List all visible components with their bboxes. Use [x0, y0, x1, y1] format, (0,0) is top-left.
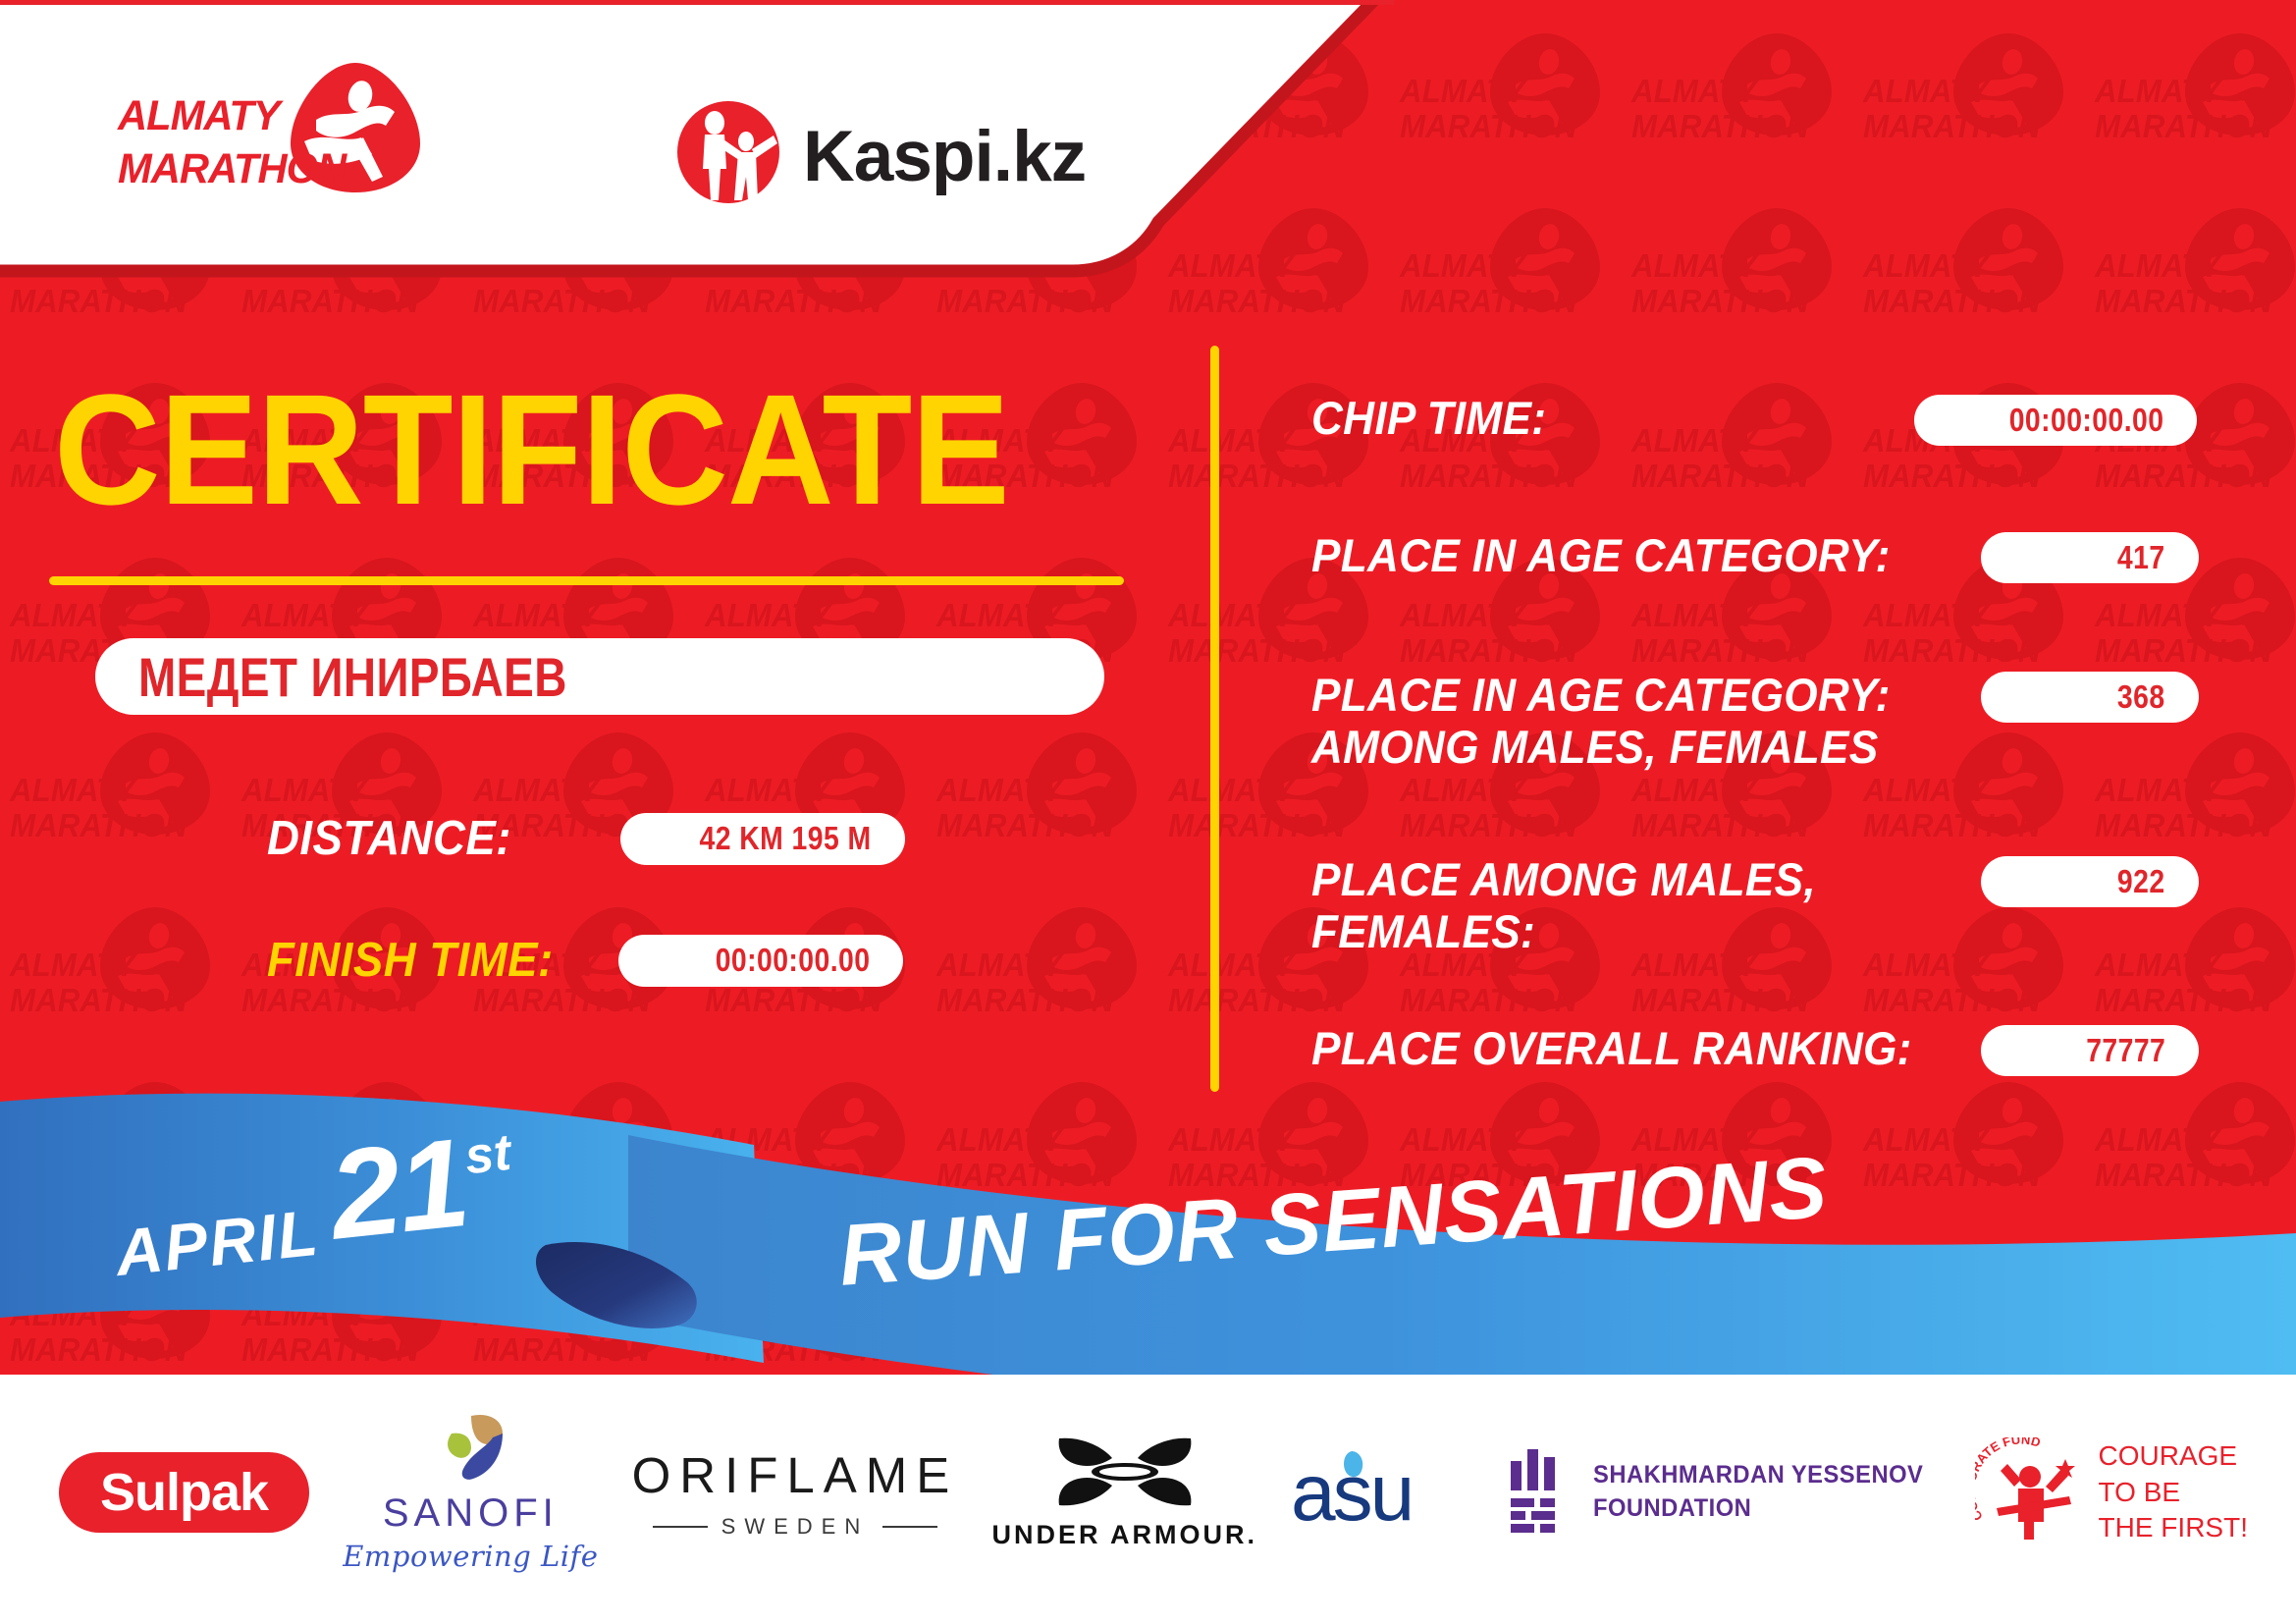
under-armour-label: UNDER ARMOUR.: [991, 1520, 1257, 1550]
finish-time-row: FINISH TIME: 00:00:00.00: [267, 933, 903, 988]
sanofi-tagline: Empowering Life: [343, 1540, 598, 1573]
stat-row-place-among-males-females: PLACE AMONG MALES, FEMALES: 922: [1266, 854, 2248, 957]
oriflame-tagline: SWEDEN: [721, 1514, 870, 1540]
under-armour-logo-icon: [1051, 1435, 1199, 1509]
kaspi-kz-logo: Kaspi.kz: [677, 98, 1090, 206]
results-column: CHIP TIME: 00:00:00.00 PLACE IN AGE CATE…: [1266, 295, 2296, 1119]
header-logos: ALMATY MARATHON Kaspi.kz: [0, 0, 1178, 275]
stat-value: 922: [2117, 863, 2165, 900]
sponsor-sanofi: SANOFI Empowering Life: [343, 1414, 598, 1571]
sponsor-list: Sulpak SANOFI Empowering Life: [59, 1404, 2248, 1581]
column-divider: [1210, 346, 1219, 1092]
stat-label: PLACE OVERALL RANKING:: [1311, 1023, 1912, 1075]
courage-label-line3: THE FIRST!: [2099, 1510, 2248, 1545]
sanofi-label: SANOFI: [343, 1491, 598, 1536]
event-day-suffix: st: [462, 1124, 513, 1186]
athlete-name-value: МЕДЕТ ИНИРБАЕВ: [138, 645, 567, 709]
asu-logo-icon: asu: [1291, 1445, 1473, 1540]
sponsors-footer: Sulpak SANOFI Empowering Life: [0, 1375, 2296, 1624]
stat-value: 00:00:00.00: [2008, 402, 2163, 439]
sponsor-yessenov-foundation: SHAKHMARDAN YESSENOV FOUNDATION: [1507, 1414, 1941, 1571]
event-day: 21: [324, 1112, 474, 1267]
sulpak-label: Sulpak: [100, 1462, 268, 1523]
stat-label: PLACE IN AGE CATEGORY: AMONG MALES, FEMA…: [1311, 670, 1891, 773]
stat-value: 417: [2117, 539, 2165, 576]
stat-value-pill: 368: [1981, 672, 2199, 723]
sponsor-sulpak: Sulpak: [59, 1414, 309, 1571]
stat-label: PLACE IN AGE CATEGORY:: [1311, 530, 1891, 582]
sanofi-mark-icon: [428, 1412, 512, 1483]
sponsor-oriflame: ORIFLAME SWEDEN: [632, 1414, 959, 1571]
finish-time-value: 00:00:00.00: [715, 942, 870, 979]
yessenov-label-line1: SHAKHMARDAN YESSENOV: [1593, 1459, 1923, 1492]
page-title: CERTIFICATE: [54, 377, 1009, 521]
distance-label: DISTANCE:: [267, 811, 596, 866]
courage-label-line1: COURAGE: [2099, 1438, 2248, 1474]
sponsor-courage-fund: CORPORATE FUND: [1975, 1414, 2248, 1571]
distance-row: DISTANCE: 42 KM 195 M: [267, 811, 905, 866]
sulpak-logo: Sulpak: [59, 1452, 309, 1533]
certificate-canvas: ALMATY MARATHON ALMATY: [0, 0, 2296, 1624]
stat-value: 77777: [2086, 1032, 2165, 1069]
stat-value-pill: 922: [1981, 856, 2199, 907]
finish-time-label: FINISH TIME:: [267, 933, 594, 988]
title-underline: [49, 576, 1124, 585]
almaty-marathon-logo: ALMATY MARATHON: [116, 57, 440, 194]
stat-label: PLACE AMONG MALES, FEMALES:: [1311, 854, 1816, 957]
stat-value: 368: [2117, 678, 2165, 716]
stat-row-chip-time: CHIP TIME: 00:00:00.00: [1266, 393, 2248, 445]
svg-text:MARATHON: MARATHON: [118, 144, 348, 191]
svg-text:Kaspi.kz: Kaspi.kz: [803, 117, 1086, 196]
sponsor-asu: asu: [1291, 1414, 1473, 1571]
athlete-name-field: МЕДЕТ ИНИРБАЕВ: [95, 638, 1104, 715]
yessenov-bars-icon: [1507, 1447, 1572, 1538]
stat-value-pill: 77777: [1981, 1025, 2199, 1076]
stat-label: CHIP TIME:: [1311, 393, 1546, 445]
oriflame-label: ORIFLAME: [632, 1446, 959, 1504]
stat-row-place-age-category: PLACE IN AGE CATEGORY: 417: [1266, 530, 2248, 582]
stat-row-place-overall-ranking: PLACE OVERALL RANKING: 77777: [1266, 1023, 2248, 1075]
distance-value: 42 KM 195 M: [700, 820, 872, 857]
distance-value-pill: 42 KM 195 M: [620, 813, 905, 865]
oriflame-rule-left: [653, 1526, 708, 1528]
finish-time-value-pill: 00:00:00.00: [618, 935, 903, 987]
stat-value-pill: 00:00:00.00: [1914, 395, 2197, 446]
courage-runner-icon: CORPORATE FUND: [1975, 1437, 2089, 1547]
oriflame-rule-right: [882, 1526, 937, 1528]
courage-label-line2: TO BE: [2099, 1475, 2248, 1510]
yessenov-label-line2: FOUNDATION: [1593, 1492, 1923, 1526]
svg-text:ALMATY: ALMATY: [117, 91, 284, 138]
sponsor-under-armour: UNDER ARMOUR.: [991, 1414, 1257, 1571]
stat-value-pill: 417: [1981, 532, 2199, 583]
certificate-left-column: CERTIFICATE МЕДЕТ ИНИРБАЕВ DISTANCE: 42 …: [0, 295, 1207, 1119]
stat-row-place-age-category-among: PLACE IN AGE CATEGORY: AMONG MALES, FEMA…: [1266, 670, 2248, 773]
